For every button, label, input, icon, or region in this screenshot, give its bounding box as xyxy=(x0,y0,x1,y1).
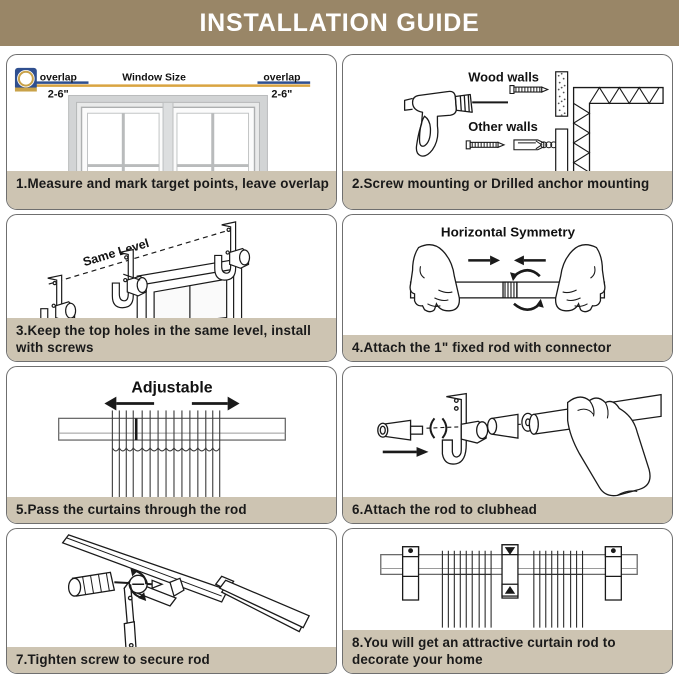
overlap-right-label: overlap xyxy=(263,73,300,84)
step-caption-4: 4.Attach the 1" fixed rod with connector xyxy=(343,335,672,362)
adjustable-label: Adjustable xyxy=(131,380,212,397)
same-level-label: Same Level xyxy=(81,236,150,269)
step-caption-3: 3.Keep the top holes in the same level, … xyxy=(7,318,336,361)
curtain-adjustable-panel: Adjustable xyxy=(6,366,337,524)
tighten-screw-panel: 7.Tighten screw to secure rod xyxy=(6,528,337,674)
wood-walls-label: Wood walls xyxy=(468,70,539,85)
finished-rod-panel: 8.You will get an attractive curtain rod… xyxy=(342,528,673,674)
header-bar: INSTALLATION GUIDE xyxy=(0,0,679,46)
step-caption-2: 2.Screw mounting or Drilled anchor mount… xyxy=(343,171,672,209)
step-panel-1: overlap 2-6" Window Size overlap 2-6" 1.… xyxy=(6,54,337,210)
two-hands-rod-connector-panel: Horizontal Symmetry xyxy=(342,214,673,362)
step-caption-6: 6.Attach the rod to clubhead xyxy=(343,497,672,524)
window-size-label: Window Size xyxy=(122,73,186,84)
installation-guide-page: INSTALLATION GUIDE xyxy=(0,0,679,674)
step-caption-8: 8.You will get an attractive curtain rod… xyxy=(343,630,672,673)
step-panel-2: Wood walls Other walls xyxy=(342,54,673,210)
step-caption-5: 5.Pass the curtains through the rod xyxy=(7,497,336,524)
step-caption-1: 1.Measure and mark target points, leave … xyxy=(7,171,336,209)
overlap-right-value: 2-6" xyxy=(271,88,292,100)
other-walls-label: Other walls xyxy=(468,119,538,134)
attach-rod-clubhead-panel: 6.Attach the rod to clubhead xyxy=(342,366,673,524)
step-panel-3: Same Level xyxy=(6,214,337,362)
step-caption-7: 7.Tighten screw to secure rod xyxy=(7,647,336,674)
horizontal-symmetry-label: Horizontal Symmetry xyxy=(441,225,576,240)
overlap-left-value: 2-6" xyxy=(48,88,69,100)
overlap-left-label: overlap xyxy=(40,73,77,84)
page-title: INSTALLATION GUIDE xyxy=(199,9,479,38)
steps-grid: overlap 2-6" Window Size overlap 2-6" 1.… xyxy=(6,54,673,668)
